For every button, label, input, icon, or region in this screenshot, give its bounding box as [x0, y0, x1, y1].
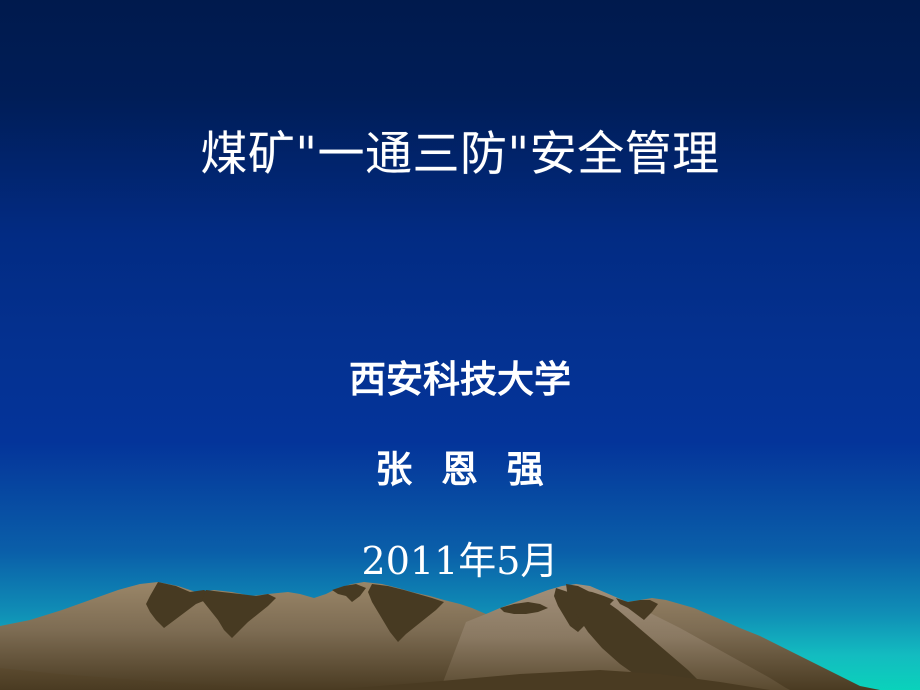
mountain-landscape-graphic [0, 570, 920, 690]
subtitle-date: 2011年5月 [0, 538, 920, 584]
slide-subtitle: 西安科技大学 张 恩 强 2011年5月 [0, 358, 920, 584]
title-slide: 煤矿"一通三防"安全管理 西安科技大学 张 恩 强 2011年5月 [0, 0, 920, 690]
slide-title: 煤矿"一通三防"安全管理 [0, 126, 920, 184]
slide-title-text: 煤矿"一通三防"安全管理 [200, 126, 719, 184]
subtitle-organization: 西安科技大学 [0, 358, 920, 402]
subtitle-spacer-one [0, 402, 920, 448]
subtitle-spacer-two [0, 492, 920, 538]
subtitle-author: 张 恩 强 [0, 448, 920, 492]
